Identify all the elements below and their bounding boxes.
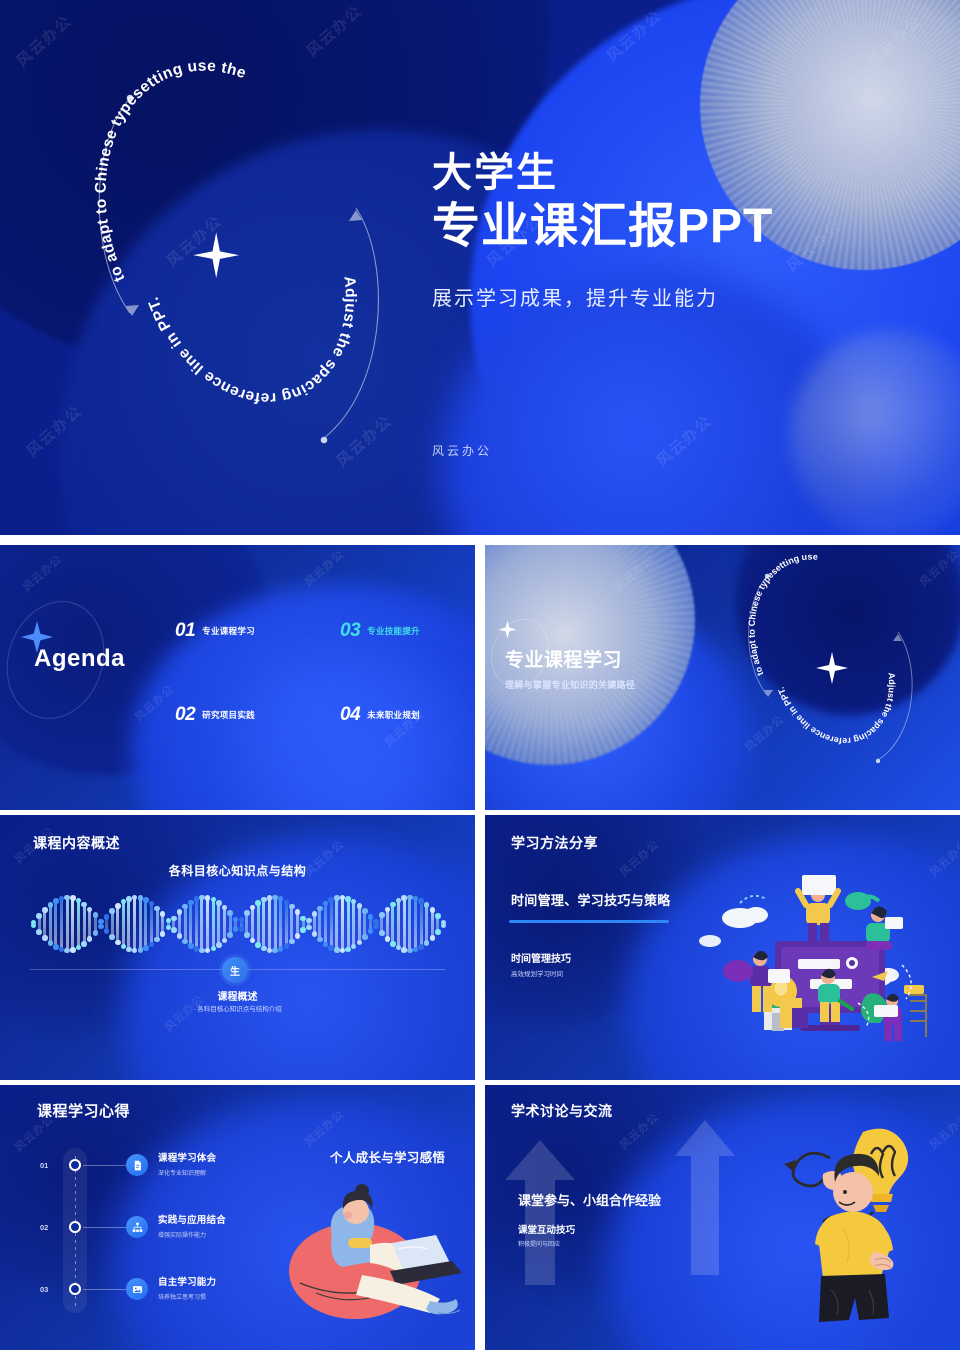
timeline-item-number: 02 [40, 1223, 48, 1232]
discussion-subheading: 课堂互动技巧 [518, 1222, 575, 1236]
agenda-items: 01 专业课程学习 03 专业技能提升 02 研究项目实践 04 未来职业规划 [175, 620, 455, 726]
timeline-item-desc: 培养独立思考习惯 [158, 1292, 216, 1301]
agenda-item-label: 专业课程学习 [202, 625, 255, 637]
timeline-dot [69, 1221, 81, 1233]
timeline-item-desc: 深化专业知识理解 [158, 1168, 216, 1177]
timeline-dot [69, 1283, 81, 1295]
timeline-item[interactable]: 03 自主学习能力 培养独立思考习惯 [40, 1272, 260, 1314]
cover-title-line1: 大学生 [432, 150, 773, 197]
study-methods-title: 学习方法分享 [511, 833, 598, 853]
badge-label: 生 [230, 963, 240, 978]
agenda-item[interactable]: 01 专业课程学习 [175, 620, 290, 642]
section-subtitle: 理解与掌握专业知识的关键路径 [505, 678, 635, 691]
timeline-connector [83, 1165, 127, 1166]
agenda-item-number: 02 [175, 704, 195, 726]
team-collaboration-illustration [680, 873, 935, 1058]
course-overview-subtitle: 各科目核心知识点与结构 [0, 862, 475, 879]
timeline-connector [83, 1227, 127, 1228]
section-circle-text-outer: to adapt to Chinese typesetting use [747, 551, 819, 677]
agenda-item[interactable]: 02 研究项目实践 [175, 704, 290, 726]
timeline-item-heading: 实践与应用结合 [158, 1212, 226, 1226]
timeline-item-number: 03 [40, 1285, 48, 1294]
agenda-item-number: 04 [340, 704, 360, 726]
presentation-deck: 风云办公 风云办公 风云办公 风云办公 风云办公 风云办公 风云办公 风云办公 … [0, 0, 960, 1352]
person-idea-lightbulb-illustration [735, 1120, 920, 1330]
timeline-connector [83, 1289, 127, 1290]
four-point-star-icon [193, 232, 239, 278]
reflections-title: 课程学习心得 [37, 1100, 130, 1121]
agenda-item-label: 研究项目实践 [202, 709, 255, 721]
course-overview-title: 课程内容概述 [33, 833, 120, 853]
timeline-item-number: 01 [40, 1161, 48, 1170]
timeline-item-heading: 课程学习体会 [158, 1150, 216, 1164]
timeline-item[interactable]: 01 课程学习体会 深化专业知识理解 [40, 1148, 260, 1190]
agenda-item[interactable]: 04 未来职业规划 [340, 704, 455, 726]
timeline-dot [69, 1159, 81, 1171]
cover-subtitle: 展示学习成果，提升专业能力 [432, 282, 773, 311]
slide-cover[interactable]: 风云办公 风云办公 风云办公 风云办公 风云办公 风云办公 风云办公 风云办公 … [0, 0, 960, 535]
timeline-item-desc: 增强实际操作能力 [158, 1230, 226, 1239]
agenda-item[interactable]: 03 专业技能提升 [340, 620, 455, 642]
timeline-item[interactable]: 02 实践与应用结合 增强实际操作能力 [40, 1210, 260, 1252]
reflections-right-title: 个人成长与学习感悟 [330, 1147, 445, 1166]
circular-text-decoration: to adapt to Chinese typesetting use the … [92, 88, 392, 468]
cover-title-line2: 专业课汇报PPT [432, 199, 773, 256]
reflections-timeline: 01 课程学习体会 深化专业知识理解 02 实践与应用结合 增强实际操作能力 [40, 1148, 260, 1313]
study-methods-heading: 时间管理、学习技巧与策略 [511, 890, 671, 909]
study-methods-description: 高效规划学习时间 [511, 968, 563, 978]
discussion-title: 学术讨论与交流 [511, 1101, 613, 1121]
timeline-item-heading: 自主学习能力 [158, 1274, 216, 1288]
document-icon [126, 1154, 148, 1176]
study-methods-subheading: 时间管理技巧 [511, 950, 571, 965]
section-heading-block: 专业课程学习 理解与掌握专业知识的关键路径 [505, 645, 635, 691]
discussion-heading: 课堂参与、小组合作经验 [518, 1190, 661, 1209]
agenda-item-number: 01 [175, 620, 195, 642]
arrow-up-decoration [675, 1120, 735, 1275]
accent-underline [509, 920, 669, 923]
course-overview-bullet: · 各科目核心知识点与结构介绍 [0, 1003, 475, 1013]
agenda-title: Agenda [34, 645, 125, 673]
section-circle-text-inner: Adjust the spacing reference line in PPT… [776, 672, 897, 746]
cover-brand-label: 风云办公 [432, 442, 492, 459]
agenda-item-number: 03 [340, 620, 360, 642]
arrow-up-decoration [505, 1140, 575, 1285]
course-overview-caption: 课程概述 [0, 988, 475, 1003]
dna-helix-decoration [28, 893, 448, 955]
course-overview-badge: 生 [222, 957, 248, 983]
discussion-description: 积极提问与回应 [518, 1239, 560, 1248]
image-icon [126, 1278, 148, 1300]
person-reading-laptop-illustration [270, 1175, 475, 1325]
agenda-item-label: 未来职业规划 [367, 709, 420, 721]
agenda-item-label: 专业技能提升 [367, 625, 420, 637]
sitemap-icon [126, 1216, 148, 1238]
section-title: 专业课程学习 [505, 645, 635, 672]
cover-circle-text-inner: Adjust the spacing reference line in PPT… [145, 275, 359, 406]
circular-text-decoration: to adapt to Chinese typesetting use Adju… [745, 570, 920, 770]
cover-circle-text-outer: to adapt to Chinese typesetting use the [92, 58, 248, 285]
cover-title-block: 大学生 专业课汇报PPT 展示学习成果，提升专业能力 [432, 150, 773, 311]
four-point-star-icon [816, 652, 848, 684]
